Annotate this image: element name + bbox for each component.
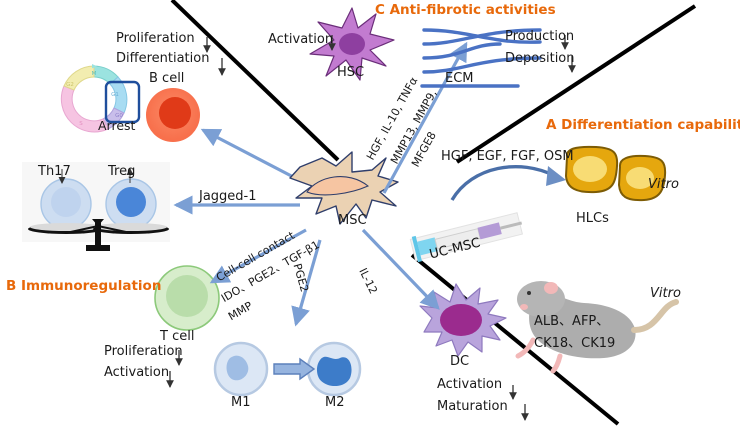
hsc-effect-activation: Activation xyxy=(268,33,333,48)
msc-label: MSC xyxy=(338,214,367,229)
hlcs-label: HLCs xyxy=(576,212,609,227)
section-heading-a: A Differentiation capability xyxy=(546,117,740,133)
m1-graphic xyxy=(215,343,267,395)
ecm-effect-production: Production xyxy=(505,30,574,45)
bcell-label: B cell xyxy=(149,72,184,87)
arrow-msc-to-bcell xyxy=(203,130,301,181)
syringe-graphic xyxy=(410,210,525,262)
arrow-differentiation xyxy=(452,167,555,200)
dc-effect-activation: Activation xyxy=(437,378,502,393)
svg-text:M: M xyxy=(92,71,97,77)
section-heading-b: B Immunoregulation xyxy=(6,278,161,294)
invitro-label-hlc: Vitro xyxy=(648,178,679,193)
hsc-label: HSC xyxy=(337,66,364,81)
invivo-label-mouse: Vitro xyxy=(650,287,681,302)
m2-graphic xyxy=(308,343,360,395)
b-cell-graphic xyxy=(146,88,200,142)
balance-treg-label: Treg xyxy=(108,165,135,180)
svg-text:G2: G2 xyxy=(66,82,74,88)
marker-line-1: ALB、AFP、 xyxy=(534,315,609,330)
diagram-artwork: M G2 S G1 G0 xyxy=(0,0,740,427)
dc-label: DC xyxy=(450,355,469,370)
ecm-effect-deposition: Deposition xyxy=(505,52,575,67)
bcell-effect-proliferation: Proliferation xyxy=(116,32,195,47)
ecm-label: ECM xyxy=(445,72,474,87)
cell-cycle-arrest-label: Arrest xyxy=(98,119,135,133)
tcell-effect-proliferation: Proliferation xyxy=(104,345,183,360)
m2-label: M2 xyxy=(325,396,345,411)
bcell-effect-differentiation: Differentiation xyxy=(116,52,209,67)
figure-canvas: M G2 S G1 G0 xyxy=(0,0,740,427)
dc-graphic xyxy=(420,284,506,356)
differentiation-factors: HGF, EGF, FGF, OSM xyxy=(441,150,574,165)
svg-text:G1: G1 xyxy=(111,92,119,98)
balance-th17-label: Th17 xyxy=(38,165,71,180)
svg-text:S: S xyxy=(79,121,83,127)
t-cell-graphic xyxy=(155,266,219,330)
arrow-differentiation-head xyxy=(546,166,566,186)
dc-effect-maturation: Maturation xyxy=(437,400,508,415)
tcell-label: T cell xyxy=(160,330,194,345)
marker-line-2: CK18、CK19 xyxy=(534,337,615,352)
section-heading-c: C Anti-fibrotic activities xyxy=(375,2,556,18)
effect-arrows-dc xyxy=(513,385,525,420)
tcell-effect-activation: Activation xyxy=(104,366,169,381)
m1-label: M1 xyxy=(231,396,251,411)
jagged1-label: Jagged-1 xyxy=(199,190,257,205)
